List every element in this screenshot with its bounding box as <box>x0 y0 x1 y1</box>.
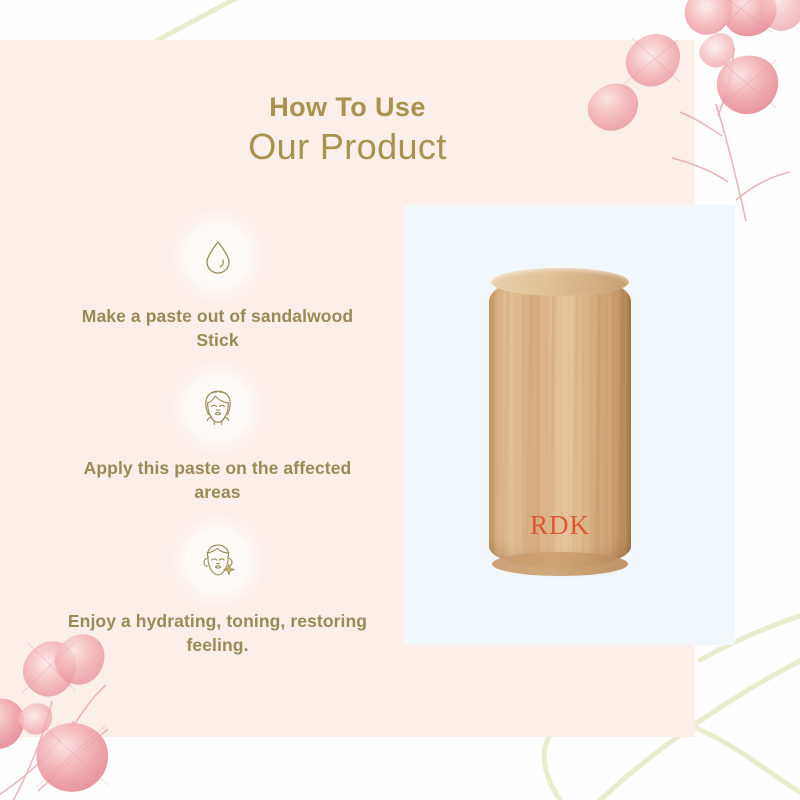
step-item: Make a paste out of sandalwood Stick <box>50 222 385 352</box>
page-title-line2: Our Product <box>0 124 695 171</box>
stick-bottom-face <box>492 552 628 576</box>
step-icon-badge <box>184 222 252 290</box>
step-icon-badge <box>184 374 252 442</box>
step-icon-badge <box>184 527 252 595</box>
step-label: Make a paste out of sandalwood Stick <box>68 304 368 352</box>
step-label: Apply this paste on the affected areas <box>68 456 368 504</box>
water-drop-icon <box>198 236 238 276</box>
heading-block: How To Use Our Product <box>0 92 695 171</box>
step-label: Enjoy a hydrating, toning, restoring fee… <box>68 609 368 657</box>
step-item: Apply this paste on the affected areas <box>50 374 385 504</box>
poster-canvas: How To Use Our Product Make a paste out … <box>0 0 800 800</box>
steps-list: Make a paste out of sandalwood Stick <box>50 222 385 679</box>
brand-mark-rdk: RDK <box>489 510 631 541</box>
stick-top-face <box>491 268 629 296</box>
sandalwood-stick: RDK <box>489 275 631 567</box>
step-item: Enjoy a hydrating, toning, restoring fee… <box>50 527 385 657</box>
face-glowing-sparkle-icon <box>195 538 241 584</box>
page-title-line1: How To Use <box>0 92 695 124</box>
face-applying-cream-icon <box>195 385 241 431</box>
